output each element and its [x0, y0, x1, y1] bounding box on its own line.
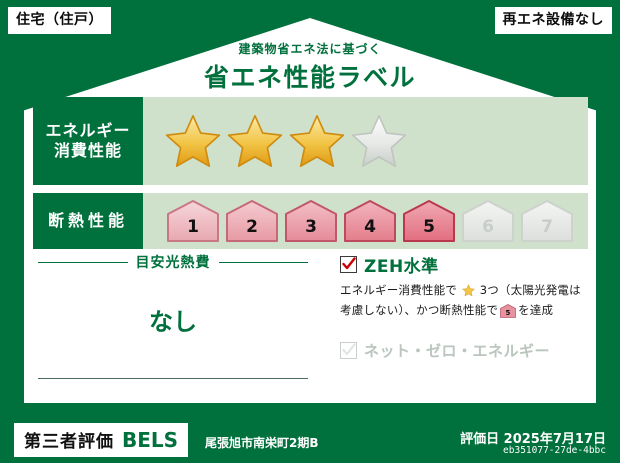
zeh-description: エネルギー消費性能で 3つ（太陽光発電は考慮しない）、かつ断熱性能で 5 を達成 — [340, 282, 588, 322]
cost-rule-left — [38, 262, 128, 263]
insulation-level-1: 1 — [165, 199, 221, 243]
label-subtitle: 建築物省エネ法に基づく — [0, 40, 620, 57]
utility-cost-heading: 目安光熱費 — [38, 252, 308, 272]
label-title: 省エネ性能ラベル — [0, 58, 620, 94]
insulation-level-4: 4 — [342, 199, 398, 243]
energy-star-rating — [143, 97, 588, 185]
energy-performance-header: エネルギー 消費性能 — [33, 97, 143, 185]
zeh-desc-part1: エネルギー消費性能で — [340, 283, 457, 297]
bels-badge-jp: 第三者評価 — [24, 427, 114, 452]
mini-star-icon — [458, 286, 479, 300]
net-zero-energy-label: ネット・ゼロ・エネルギー — [364, 340, 550, 361]
energy-header-line2: 消費性能 — [54, 141, 122, 161]
insulation-level-label: 4 — [364, 217, 376, 243]
renewable-equipment-tag: 再エネ設備なし — [495, 7, 613, 34]
zeh-desc-part3: を達成 — [518, 303, 553, 317]
zeh-standard-row: ZEH水準 — [340, 252, 588, 277]
energy-performance-row: エネルギー 消費性能 — [33, 97, 588, 185]
star-filled-icon — [289, 113, 345, 169]
evaluation-id: eb351077-27de-4bbc — [503, 445, 606, 456]
insulation-level-5: 5 — [401, 199, 457, 243]
star-filled-icon — [165, 113, 221, 169]
insulation-level-label: 2 — [246, 217, 258, 243]
net-zero-energy-row: ネット・ゼロ・エネルギー — [340, 340, 588, 361]
insulation-level-label: 3 — [305, 217, 317, 243]
zeh-block: ZEH水準 エネルギー消費性能で 3つ（太陽光発電は考慮しない）、かつ断熱性能で… — [340, 252, 588, 361]
zeh-checkbox-checked-icon — [340, 256, 357, 273]
insulation-level-label: 6 — [482, 217, 494, 243]
insulation-performance-header: 断熱性能 — [33, 193, 143, 249]
insulation-level-label: 5 — [423, 217, 435, 243]
netzero-checkbox-unchecked-icon — [340, 342, 357, 359]
insulation-level-6: 6 — [460, 199, 516, 243]
cost-rule-right — [219, 262, 309, 263]
insulation-level-2: 2 — [224, 199, 280, 243]
mini-house-icon: 5 — [500, 304, 516, 323]
insulation-performance-row: 断熱性能 1234567 — [33, 193, 588, 249]
utility-cost-block: 目安光熱費 なし — [38, 252, 308, 337]
star-filled-icon — [227, 113, 283, 169]
zeh-standard-label: ZEH水準 — [364, 252, 439, 277]
cost-heading-text: 目安光熱費 — [128, 252, 219, 272]
cost-bottom-divider — [38, 378, 308, 379]
utility-cost-value: なし — [38, 302, 308, 337]
bels-badge: 第三者評価 BELS — [14, 423, 188, 457]
property-address: 尾張旭市南栄町2期B — [205, 434, 319, 451]
building-type-tag: 住宅（住戸） — [8, 7, 111, 34]
insulation-level-label: 1 — [187, 217, 199, 243]
zeh-desc-starcount: 3つ（太陽光発電 — [480, 283, 569, 297]
energy-header-line1: エネルギー — [45, 121, 130, 141]
insulation-level-7: 7 — [519, 199, 575, 243]
insulation-level-scale: 1234567 — [143, 193, 588, 249]
insulation-level-3: 3 — [283, 199, 339, 243]
energy-label-card: 住宅（住戸） 再エネ設備なし 建築物省エネ法に基づく 省エネ性能ラベル エネルギ… — [0, 0, 620, 463]
label-footer: 第三者評価 BELS 尾張旭市南栄町2期B 評価日 2025年7月17日 eb3… — [0, 415, 620, 463]
star-empty-icon — [351, 113, 407, 169]
svg-text:5: 5 — [506, 309, 511, 317]
insulation-level-label: 7 — [541, 217, 553, 243]
bels-badge-en: BELS — [122, 428, 178, 452]
